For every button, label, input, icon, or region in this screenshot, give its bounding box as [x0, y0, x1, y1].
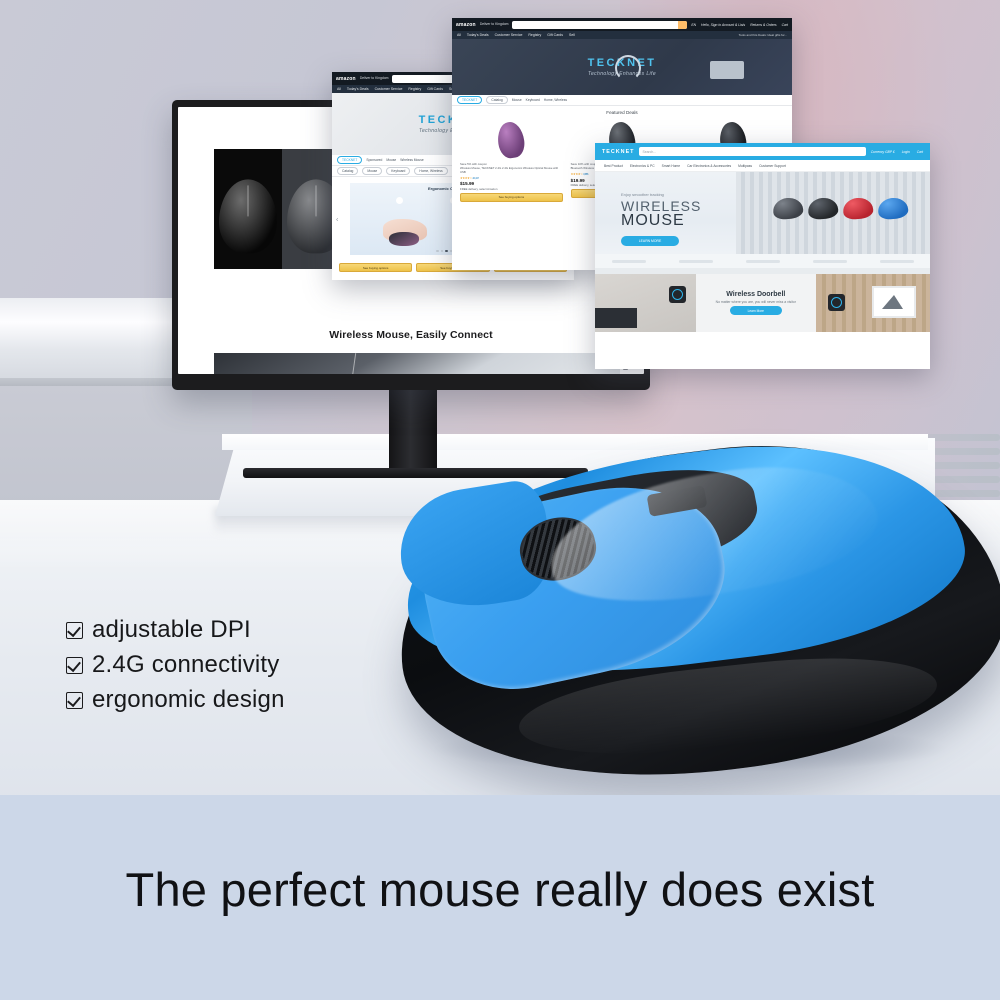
screen-lower-image: [214, 353, 620, 374]
checkbox-checked-icon: [66, 622, 83, 639]
hero-eyebrow: Enjoy smoother tracking: [621, 192, 701, 197]
breadcrumb-0[interactable]: Sponsored: [366, 158, 382, 162]
picture-frame: [872, 286, 916, 318]
deliver-to-label[interactable]: Deliver to Kingdom: [480, 23, 509, 27]
strip-placeholder: [746, 260, 780, 263]
strip-placeholder: [612, 260, 646, 263]
wireless-doorbell-banner[interactable]: Wireless Doorbell No matter where you ar…: [595, 274, 930, 332]
hero-feature-strip: [595, 254, 930, 268]
header-actions[interactable]: Currency GBP £ Login Cart: [871, 150, 923, 154]
deliver-to-label[interactable]: Deliver to Kingdom: [360, 77, 389, 81]
product-price: $15.99: [460, 181, 563, 186]
doorbell-device-icon: [828, 294, 845, 311]
product-card[interactable]: Save 5% with coupon Wireless Mouse, TECK…: [458, 117, 565, 204]
search-input[interactable]: Search...: [639, 147, 865, 156]
hero-mouse-gray: [772, 196, 804, 220]
hand-on-mouse-illustration: [383, 219, 427, 241]
product-marketing-image: Blue Wireless Mouse, Easily Connect: [0, 0, 1000, 1000]
amazon-logo[interactable]: amazon: [336, 76, 356, 82]
breadcrumb-2[interactable]: Wireless Mouse: [400, 158, 423, 162]
category-pill-0[interactable]: Catalog: [337, 167, 358, 175]
hero-mouse-red: [842, 196, 874, 220]
hero-line-1: WIRELESS: [621, 199, 701, 213]
electronics-product-image: [710, 61, 744, 79]
subnav-item-2[interactable]: Customer Service: [495, 33, 523, 37]
amazon-search-input[interactable]: [512, 21, 687, 29]
amazon-header-bar[interactable]: amazon Deliver to Kingdom EN Hello, Sign…: [452, 18, 792, 31]
feature-item: 2.4G connectivity: [66, 651, 285, 679]
mouse-product-photo: [496, 120, 527, 159]
feature-item: ergonomic design: [66, 686, 285, 714]
feature-label: 2.4G connectivity: [92, 651, 280, 679]
checkbox-checked-icon: [66, 692, 83, 709]
monitor-riser-top: [222, 434, 928, 450]
wall-lower: [0, 386, 252, 506]
subnav-item-4[interactable]: Gift Cards: [547, 33, 563, 37]
wireless-mouse-product: [398, 452, 1000, 772]
amazon-logo[interactable]: amazon: [456, 22, 476, 28]
nav-item-best-product[interactable]: Best Product: [604, 164, 623, 168]
hero-mouse-lineup: [773, 198, 908, 219]
bluetooth-icon: [396, 197, 403, 204]
feature-item: adjustable DPI: [66, 616, 285, 644]
subnav-item-5[interactable]: Sell: [569, 33, 575, 37]
buy-button[interactable]: See buying options: [339, 263, 412, 272]
feature-list: adjustable DPI 2.4G connectivity ergonom…: [66, 616, 285, 721]
screen-caption: Wireless Mouse, Easily Connect: [178, 329, 644, 341]
store-logo-pill[interactable]: TECKNET: [457, 96, 482, 104]
hero-text-block: Enjoy smoother tracking WIRELESS MOUSE L…: [621, 192, 701, 246]
hero-mouse-blue: [877, 196, 909, 220]
cart-icon[interactable]: Cart: [782, 23, 788, 27]
hero-banner: Enjoy smoother tracking WIRELESS MOUSE L…: [595, 172, 930, 254]
store-logo-pill[interactable]: TECKNET: [337, 156, 362, 164]
product-title[interactable]: Wireless Mouse, TECKNET 2.4G 2.4G Ergono…: [460, 167, 563, 174]
checkbox-checked-icon: [66, 657, 83, 674]
tecknet-hero-banner: TECKNET Technology Enhances Life: [452, 39, 792, 95]
amazon-account-links[interactable]: EN Hello, Sign in Account & Lists Return…: [691, 23, 788, 27]
nav-item-car-electronics[interactable]: Car Electronics & Accessories: [687, 164, 731, 168]
subnav-item-3[interactable]: Registry: [408, 87, 421, 91]
see-buying-options-button[interactable]: See buying options: [460, 193, 563, 202]
search-placeholder: Search...: [642, 150, 656, 154]
doorbell-learn-more-button[interactable]: Learn More: [730, 306, 782, 315]
review-count[interactable]: 20,417: [472, 177, 478, 180]
doorbell-scene-left: [595, 274, 696, 332]
strip-placeholder: [880, 260, 914, 263]
feature-label: ergonomic design: [92, 686, 285, 714]
account-link-1[interactable]: Hello, Sign in Account & Lists: [701, 23, 745, 27]
browser-window-tecknet-website[interactable]: TECKNET Search... Currency GBP £ Login C…: [595, 143, 930, 369]
subnav-item-3[interactable]: Registry: [528, 33, 541, 37]
strip-placeholder: [679, 260, 713, 263]
doorbell-title: Wireless Doorbell: [726, 291, 785, 298]
headphones-icon: [615, 55, 641, 81]
doorbell-subtitle: No matter where you are, you will never …: [716, 300, 796, 304]
category-pill-2[interactable]: Keyboard: [526, 98, 540, 102]
subnav-item-4[interactable]: Gift Cards: [427, 87, 443, 91]
search-icon[interactable]: [678, 21, 687, 29]
swatch-mouse-icon: [219, 179, 277, 253]
nav-item-electronics-pc[interactable]: Electronics & PC: [630, 164, 655, 168]
learn-more-button[interactable]: LEARN MORE: [621, 236, 679, 246]
account-link-0[interactable]: EN: [691, 23, 696, 27]
category-pill-3[interactable]: Home, Wireless: [544, 98, 567, 102]
subnav-item-0[interactable]: All: [337, 87, 341, 91]
nav-item-smart-home[interactable]: Smart Home: [662, 164, 681, 168]
promo-tagline[interactable]: Tools and Kits Deals: Ideal gifts for...: [739, 33, 787, 37]
hero-line-2: MOUSE: [621, 213, 701, 229]
featured-deals-title: Featured Deals: [452, 106, 792, 117]
tecknet-site-nav[interactable]: Best Product Electronics & PC Smart Home…: [595, 160, 930, 172]
nav-item-multipass[interactable]: Multipass: [738, 164, 752, 168]
rating-stars[interactable]: ★★★★☆ 20,417: [460, 176, 563, 180]
doorbell-device-icon: [669, 286, 686, 303]
category-pill-3[interactable]: Home, Wireless: [414, 167, 447, 175]
swatch-black: [214, 149, 282, 269]
tecknet-store-nav[interactable]: TECKNET Catalog Mouse Keyboard Home, Wir…: [452, 95, 792, 106]
feature-label: adjustable DPI: [92, 616, 251, 644]
desk-object: [595, 308, 637, 328]
review-count[interactable]: 3,686: [583, 173, 588, 176]
amazon-subnav[interactable]: All Today's Deals Customer Service Regis…: [452, 31, 792, 39]
category-pill-1[interactable]: Mouse: [512, 98, 522, 102]
currency-selector[interactable]: Currency GBP £: [871, 150, 895, 154]
subnav-item-1[interactable]: Today's Deals: [347, 87, 369, 91]
carousel-prev-icon[interactable]: ‹: [336, 217, 338, 224]
category-pill-2[interactable]: Keyboard: [386, 167, 410, 175]
category-pill-1[interactable]: Mouse: [362, 167, 382, 175]
tecknet-site-header[interactable]: TECKNET Search... Currency GBP £ Login C…: [595, 143, 930, 160]
product-image[interactable]: [460, 119, 563, 161]
doorbell-text-block: Wireless Doorbell No matter where you ar…: [696, 274, 817, 332]
category-pill-0[interactable]: Catalog: [486, 96, 507, 104]
strip-placeholder: [813, 260, 847, 263]
subnav-item-1[interactable]: Today's Deals: [467, 33, 489, 37]
coupon-label: Save 5% with coupon: [460, 163, 563, 166]
breadcrumb-1[interactable]: Mouse: [386, 158, 396, 162]
account-link-2[interactable]: Returns & Orders: [750, 23, 776, 27]
tecknet-logo[interactable]: TECKNET: [602, 149, 634, 155]
cart-icon[interactable]: Cart: [917, 150, 923, 154]
subnav-item-0[interactable]: All: [457, 33, 461, 37]
subnav-item-2[interactable]: Customer Service: [375, 87, 403, 91]
nav-item-customer-support[interactable]: Customer Support: [759, 164, 786, 168]
login-link[interactable]: Login: [902, 150, 910, 154]
hero-mouse-black: [807, 196, 839, 220]
shipping-note: FREE delivery, select Amazon: [460, 188, 563, 191]
footer-tagline: The perfect mouse really does exist: [0, 862, 1000, 917]
doorbell-scene-right: [816, 274, 930, 332]
